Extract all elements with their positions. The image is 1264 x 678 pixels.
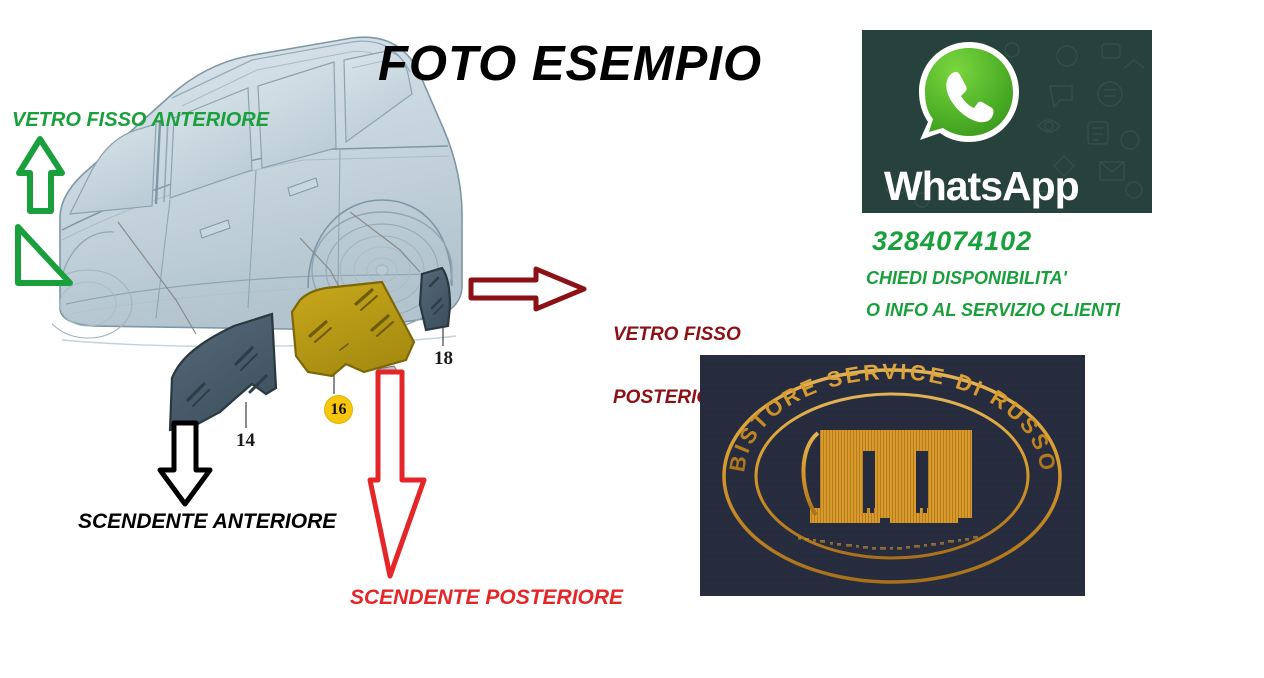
poster-canvas: 14 16 17 18 VETRO FISSO ANTERIORE VETRO … xyxy=(0,0,1264,678)
label-scendente-posteriore: SCENDENTE POSTERIORE xyxy=(350,586,623,610)
whatsapp-phone-number[interactable]: 3284074102 xyxy=(872,226,1032,257)
green-up-arrow xyxy=(8,133,78,288)
part-18-glass xyxy=(420,268,450,330)
red-down-arrow xyxy=(364,368,434,584)
logo-monogram xyxy=(803,430,972,523)
label-scendente-anteriore: SCENDENTE ANTERIORE xyxy=(78,510,336,534)
whatsapp-icon xyxy=(914,38,1024,150)
part-number-14: 14 xyxy=(236,430,255,452)
part-14-glass xyxy=(170,314,276,430)
shop-logo: MRICAMBISTORE SERVICE DI RUSSO MARCO xyxy=(700,355,1085,596)
shop-logo-artwork: MRICAMBISTORE SERVICE DI RUSSO MARCO xyxy=(700,355,1085,596)
darkred-right-arrow xyxy=(466,266,591,314)
whatsapp-wordmark: WhatsApp xyxy=(884,166,1079,207)
contact-line-2: O INFO AL SERVIZIO CLIENTI xyxy=(866,300,1120,321)
part-number-16-badge: 16 xyxy=(325,396,352,423)
page-title: FOTO ESEMPIO xyxy=(378,36,762,92)
black-down-arrow xyxy=(152,418,218,510)
label-vetro-fisso-anteriore: VETRO FISSO ANTERIORE xyxy=(12,109,269,131)
part-16-glass xyxy=(292,282,414,376)
whatsapp-banner[interactable]: WhatsApp xyxy=(862,30,1152,213)
contact-line-1: CHIEDI DISPONIBILITA' xyxy=(866,268,1067,289)
label-line-1: VETRO FISSO xyxy=(613,324,741,345)
part-number-18: 18 xyxy=(434,348,453,370)
